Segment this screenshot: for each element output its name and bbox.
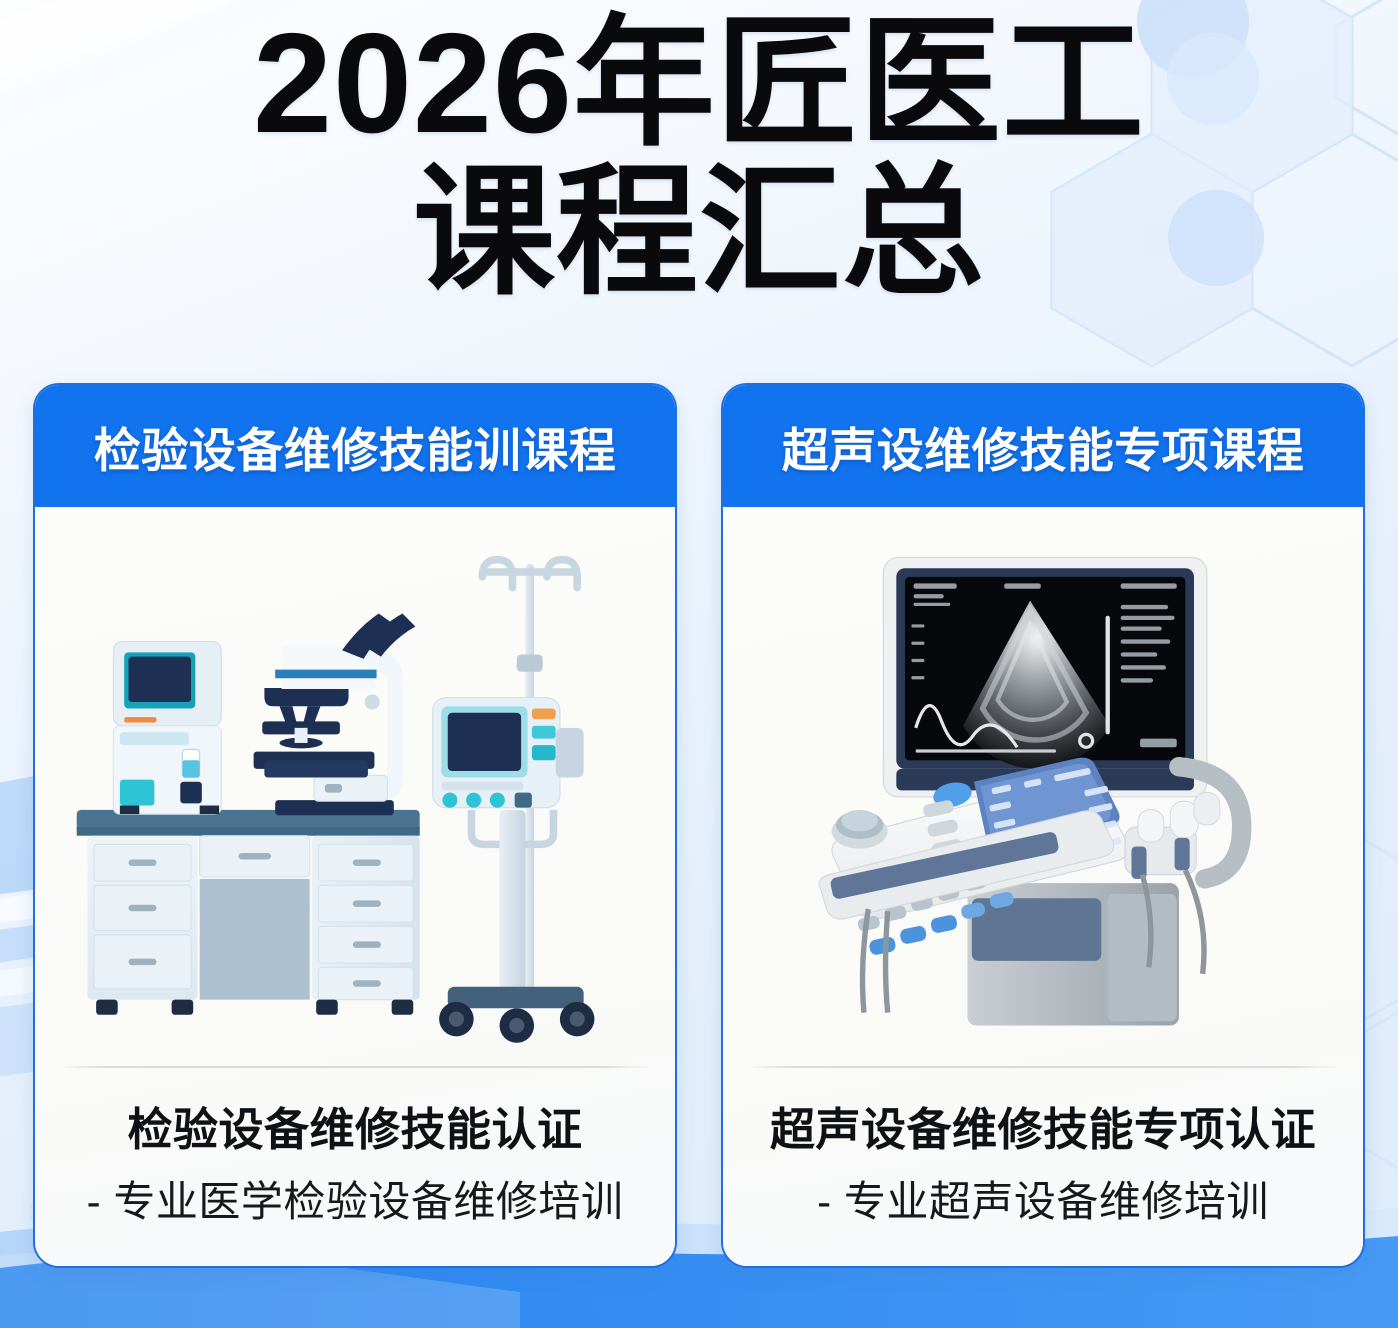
card-footer-ultrasound: 超声设备维修技能专项认证 - 专业超声设备维修培训 bbox=[723, 1068, 1363, 1266]
poster-title: 2026年匠医工 课程汇总 bbox=[0, 12, 1398, 306]
page-title-line-1: 2026年匠医工 bbox=[0, 12, 1398, 157]
card-footer-lab: 检验设备维修技能认证 - 专业医学检验设备维修培训 bbox=[35, 1068, 675, 1266]
cert-subtitle-ultrasound: - 专业超声设备维修培训 bbox=[817, 1168, 1269, 1229]
page-title-line-2: 课程汇总 bbox=[0, 161, 1398, 306]
card-header-lab: 检验设备维修技能训课程 bbox=[35, 385, 675, 507]
lab-equipment-icon bbox=[53, 517, 657, 1066]
illustration-ultrasound-machine bbox=[723, 507, 1363, 1066]
illustration-laboratory-equipment bbox=[35, 507, 675, 1066]
card-body-ultrasound: 超声设备维修技能专项认证 - 专业超声设备维修培训 bbox=[723, 507, 1363, 1266]
card-header-ultrasound: 超声设维修技能专项课程 bbox=[723, 385, 1363, 507]
ultrasound-machine-icon bbox=[741, 517, 1345, 1066]
cert-subtitle-lab: - 专业医学检验设备维修培训 bbox=[87, 1168, 624, 1229]
cert-title-lab: 检验设备维修技能认证 bbox=[127, 1093, 582, 1158]
cert-title-ultrasound: 超声设备维修技能专项认证 bbox=[770, 1093, 1316, 1158]
course-card-lab[interactable]: 检验设备维修技能训课程 bbox=[33, 383, 677, 1268]
card-body-lab: 检验设备维修技能认证 - 专业医学检验设备维修培训 bbox=[35, 507, 675, 1266]
card-header-label-ultrasound: 超声设维修技能专项课程 bbox=[782, 412, 1305, 481]
course-card-list: 检验设备维修技能训课程 bbox=[33, 383, 1365, 1268]
card-header-label-lab: 检验设备维修技能训课程 bbox=[94, 412, 617, 481]
course-card-ultrasound[interactable]: 超声设维修技能专项课程 bbox=[721, 383, 1365, 1268]
